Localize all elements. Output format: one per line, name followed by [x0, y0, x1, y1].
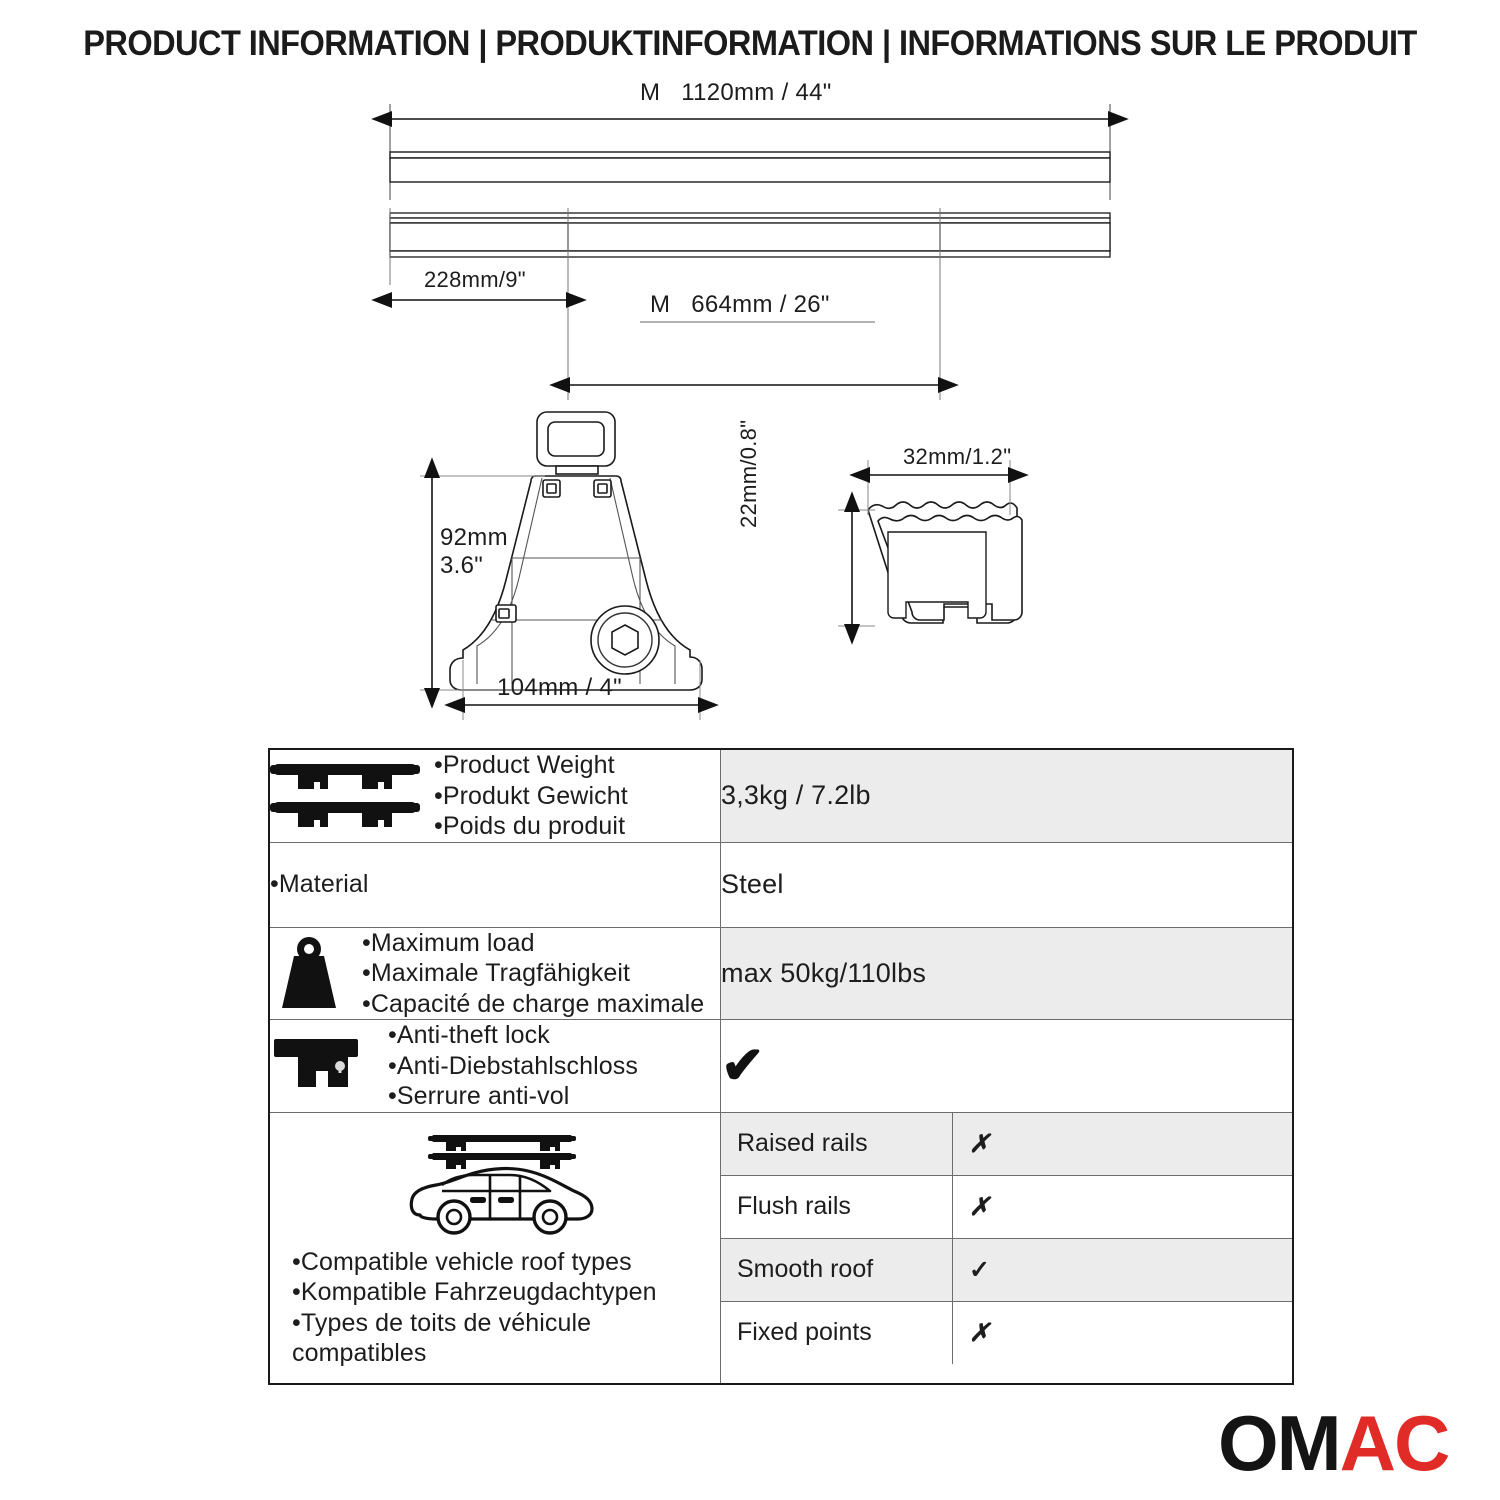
technical-drawings: M 1120mm / 44" 228mm/9" M 664mm / 26" 92…: [0, 80, 1500, 740]
dim-foot-width: 104mm / 4": [497, 674, 622, 702]
table-row-roof-types: •Compatible vehicle roof types •Kompatib…: [269, 1112, 1293, 1384]
page-title: PRODUCT INFORMATION | PRODUKTINFORMATION…: [53, 24, 1448, 64]
row-value-maxload: max 50kg/110lbs: [721, 927, 1294, 1020]
row-value-weight: 3,3kg / 7.2lb: [721, 749, 1294, 842]
label-en: •Compatible vehicle roof types: [292, 1247, 712, 1278]
roof-types-subtable: Raised rails ✗ Flush rails ✗ Smooth roof…: [721, 1113, 1292, 1364]
weight-icon: [270, 934, 348, 1012]
label-fr-cont: compatibles: [292, 1338, 712, 1369]
subrow-mark: ✗: [953, 1113, 1293, 1176]
label-en: •Product Weight: [434, 750, 628, 781]
roof-types-options-cell: Raised rails ✗ Flush rails ✗ Smooth roof…: [721, 1112, 1294, 1384]
label-fr: •Capacité de charge maximale: [362, 989, 704, 1020]
dim-foot-height: 92mm 3.6": [440, 524, 508, 581]
label-en: •Maximum load: [362, 928, 704, 959]
label-de: •Maximale Tragfähigkeit: [362, 958, 704, 989]
subrow-smooth-roof: Smooth roof ✓: [721, 1238, 1292, 1301]
label-material: •Material: [270, 869, 720, 900]
table-row-lock: •Anti-theft lock •Anti-Diebstahlschloss …: [269, 1020, 1293, 1113]
label-fr: •Poids du produit: [434, 811, 628, 842]
dim-foot-height-mm: 92mm: [440, 524, 508, 552]
row-labels-roof-types: •Compatible vehicle roof types •Kompatib…: [292, 1247, 712, 1369]
row-label-lock: •Anti-theft lock •Anti-Diebstahlschloss …: [269, 1020, 721, 1113]
row-value-material: Steel: [721, 842, 1294, 927]
car-with-roofrack-icon: [292, 1127, 712, 1239]
subrow-mark: ✗: [953, 1175, 1293, 1238]
table-row-maxload: •Maximum load •Maximale Tragfähigkeit •C…: [269, 927, 1293, 1020]
subrow-name: Flush rails: [721, 1175, 953, 1238]
row-labels-weight: •Product Weight •Produkt Gewicht •Poids …: [434, 750, 628, 842]
dim-foot-height-in: 3.6": [440, 552, 508, 580]
label-fr: •Serrure anti-vol: [388, 1081, 638, 1112]
label-de: •Anti-Diebstahlschloss: [388, 1051, 638, 1082]
table-row-material: •Material Steel: [269, 842, 1293, 927]
subrow-mark: ✗: [953, 1301, 1293, 1364]
subrow-name: Smooth roof: [721, 1238, 953, 1301]
row-label-material: •Material: [269, 842, 721, 927]
row-label-maxload: •Maximum load •Maximale Tragfähigkeit •C…: [269, 927, 721, 1020]
subrow-raised-rails: Raised rails ✗: [721, 1113, 1292, 1176]
check-icon: ✔: [721, 1037, 765, 1095]
crossbars-icon: [270, 758, 420, 834]
subrow-flush-rails: Flush rails ✗: [721, 1175, 1292, 1238]
dim-bar-length: M 1120mm / 44": [640, 79, 832, 107]
lock-icon: [270, 1033, 362, 1099]
drawing-svg: [0, 80, 1500, 740]
dim-bar-spacing: M 664mm / 26": [650, 291, 830, 319]
subrow-fixed-points: Fixed points ✗: [721, 1301, 1292, 1364]
omac-logo: OM AC: [1218, 1408, 1448, 1478]
logo-text-red: AC: [1340, 1404, 1449, 1482]
label-en: •Anti-theft lock: [388, 1020, 638, 1051]
label-fr: •Types de toits de véhicule: [292, 1308, 712, 1339]
dim-profile-width: 32mm/1.2": [903, 444, 1011, 470]
dim-profile-height: 22mm/0.8": [736, 420, 762, 528]
specification-table: •Product Weight •Produkt Gewicht •Poids …: [268, 748, 1294, 1385]
logo-text-dark: OM: [1218, 1404, 1340, 1482]
row-labels-lock: •Anti-theft lock •Anti-Diebstahlschloss …: [388, 1020, 638, 1112]
subrow-name: Fixed points: [721, 1301, 953, 1364]
label-de: •Kompatible Fahrzeugdachtypen: [292, 1277, 712, 1308]
table-row-weight: •Product Weight •Produkt Gewicht •Poids …: [269, 749, 1293, 842]
label-de: •Produkt Gewicht: [434, 781, 628, 812]
dim-foot-offset: 228mm/9": [424, 267, 526, 293]
row-label-weight: •Product Weight •Produkt Gewicht •Poids …: [269, 749, 721, 842]
subrow-mark: ✓: [953, 1238, 1293, 1301]
subrow-name: Raised rails: [721, 1113, 953, 1176]
row-label-roof-types: •Compatible vehicle roof types •Kompatib…: [269, 1112, 721, 1384]
row-labels-maxload: •Maximum load •Maximale Tragfähigkeit •C…: [362, 928, 704, 1020]
row-value-lock: ✔: [721, 1020, 1294, 1113]
